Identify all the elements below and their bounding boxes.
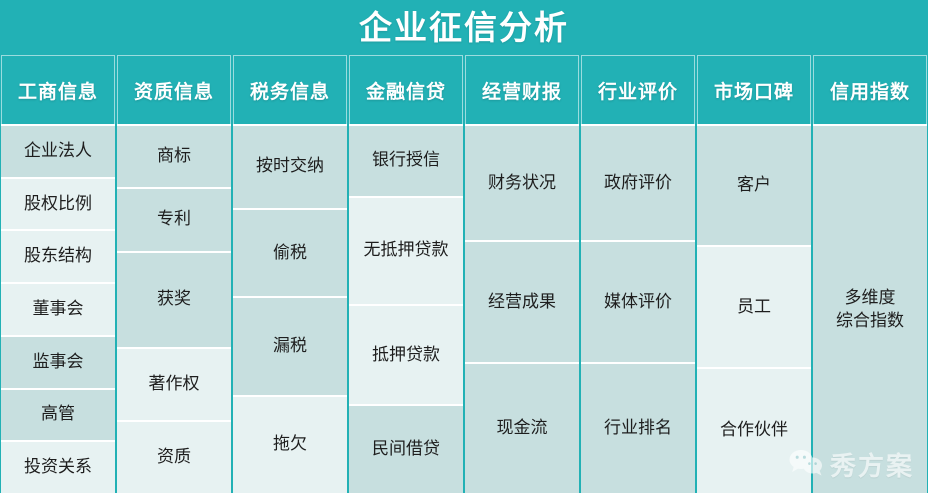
- matrix-cell[interactable]: 董事会: [1, 284, 115, 335]
- column-body: 客户员工合作伙伴: [697, 124, 811, 493]
- matrix-column: 市场口碑客户员工合作伙伴: [697, 55, 811, 493]
- column-header[interactable]: 工商信息: [1, 55, 115, 124]
- column-header[interactable]: 资质信息: [117, 55, 231, 124]
- matrix-cell[interactable]: 抵押贷款: [349, 306, 463, 405]
- matrix-cell[interactable]: 偷税: [233, 210, 347, 297]
- matrix-column: 税务信息按时交纳偷税漏税拖欠: [233, 55, 347, 493]
- matrix-cell[interactable]: 漏税: [233, 298, 347, 394]
- matrix-cell[interactable]: 多维度 综合指数: [813, 126, 927, 493]
- column-body: 按时交纳偷税漏税拖欠: [233, 124, 347, 493]
- matrix-cell[interactable]: 股权比例: [1, 179, 115, 230]
- matrix-cell[interactable]: 财务状况: [465, 126, 579, 240]
- column-header[interactable]: 金融信贷: [349, 55, 463, 124]
- column-header[interactable]: 行业评价: [581, 55, 695, 124]
- matrix-column: 工商信息企业法人股权比例股东结构董事会监事会高管投资关系: [1, 55, 115, 493]
- matrix-column: 行业评价政府评价媒体评价行业排名: [581, 55, 695, 493]
- matrix-cell[interactable]: 合作伙伴: [697, 369, 811, 493]
- matrix-cell[interactable]: 专利: [117, 189, 231, 250]
- matrix-column: 经营财报财务状况经营成果现金流: [465, 55, 579, 493]
- matrix-cell[interactable]: 行业排名: [581, 364, 695, 493]
- matrix-cell[interactable]: 员工: [697, 247, 811, 366]
- matrix-cell[interactable]: 现金流: [465, 364, 579, 493]
- matrix-cell[interactable]: 著作权: [117, 349, 231, 420]
- matrix-cell[interactable]: 监事会: [1, 337, 115, 388]
- matrix-cell[interactable]: 经营成果: [465, 242, 579, 361]
- matrix-cell[interactable]: 按时交纳: [233, 126, 347, 208]
- matrix-cell[interactable]: 政府评价: [581, 126, 695, 240]
- column-body: 企业法人股权比例股东结构董事会监事会高管投资关系: [1, 124, 115, 493]
- matrix-cell[interactable]: 银行授信: [349, 126, 463, 196]
- matrix-cell[interactable]: 股东结构: [1, 231, 115, 282]
- matrix-cell[interactable]: 高管: [1, 390, 115, 441]
- matrix-cell[interactable]: 企业法人: [1, 126, 115, 177]
- column-body: 财务状况经营成果现金流: [465, 124, 579, 493]
- column-body: 多维度 综合指数: [813, 124, 927, 493]
- matrix-cell[interactable]: 资质: [117, 422, 231, 493]
- infographic-root: 企业征信分析 工商信息企业法人股权比例股东结构董事会监事会高管投资关系资质信息商…: [0, 0, 928, 493]
- column-header[interactable]: 市场口碑: [697, 55, 811, 124]
- matrix-cell[interactable]: 拖欠: [233, 397, 347, 493]
- matrix-column: 信用指数多维度 综合指数: [813, 55, 927, 493]
- column-header[interactable]: 信用指数: [813, 55, 927, 124]
- matrix-cell[interactable]: 无抵押贷款: [349, 198, 463, 304]
- matrix-cell[interactable]: 民间借贷: [349, 406, 463, 493]
- matrix-column: 金融信贷银行授信无抵押贷款抵押贷款民间借贷: [349, 55, 463, 493]
- matrix-cell[interactable]: 投资关系: [1, 442, 115, 493]
- column-body: 商标专利获奖著作权资质: [117, 124, 231, 493]
- matrix-cell[interactable]: 媒体评价: [581, 242, 695, 361]
- column-body: 政府评价媒体评价行业排名: [581, 124, 695, 493]
- column-header[interactable]: 经营财报: [465, 55, 579, 124]
- title-banner: 企业征信分析: [0, 0, 928, 55]
- matrix-grid: 工商信息企业法人股权比例股东结构董事会监事会高管投资关系资质信息商标专利获奖著作…: [0, 55, 928, 493]
- matrix-cell[interactable]: 客户: [697, 126, 811, 245]
- column-body: 银行授信无抵押贷款抵押贷款民间借贷: [349, 124, 463, 493]
- matrix-column: 资质信息商标专利获奖著作权资质: [117, 55, 231, 493]
- page-title: 企业征信分析: [359, 11, 569, 44]
- matrix-cell[interactable]: 商标: [117, 126, 231, 187]
- column-header[interactable]: 税务信息: [233, 55, 347, 124]
- matrix-cell[interactable]: 获奖: [117, 253, 231, 348]
